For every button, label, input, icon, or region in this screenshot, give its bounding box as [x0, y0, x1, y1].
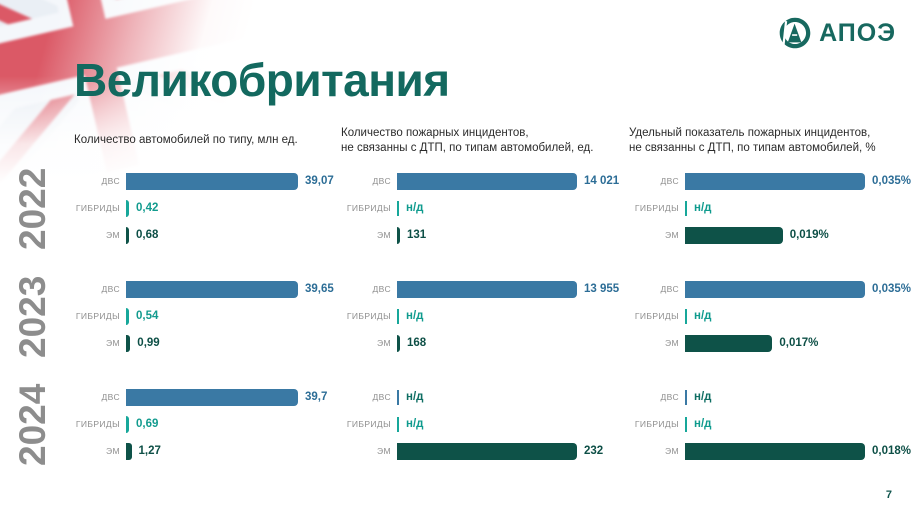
bar-value-label: 168	[400, 337, 426, 349]
bar-track: 0,017%	[685, 335, 916, 352]
bar	[397, 281, 577, 298]
chart-bar-row: ГИБРИДЫн/д	[629, 305, 916, 327]
bar-category-label: ГИБРИДЫ	[74, 419, 126, 429]
bar-value-label: 0,035%	[865, 283, 911, 295]
bar-value-label: 232	[577, 445, 603, 457]
bar-value-label: 39,65	[298, 283, 334, 295]
chart-bar-row: ЭМ0,017%	[629, 332, 916, 354]
chart-bar-row: ЭМ0,018%	[629, 440, 916, 462]
bar-value-label: 0,017%	[772, 337, 818, 349]
bar	[685, 227, 783, 244]
bar-track: 0,68	[126, 227, 362, 244]
bar-category-label: ГИБРИДЫ	[74, 203, 126, 213]
chart-bar-row: ЭМ0,68	[74, 224, 362, 246]
bar-category-label: ДВС	[341, 284, 397, 294]
bar-category-label: ГИБРИДЫ	[629, 419, 685, 429]
bar	[397, 443, 577, 460]
bar-track: 0,035%	[685, 281, 916, 298]
bar-value-label: н/д	[687, 310, 711, 322]
bar	[397, 173, 577, 190]
bar-value-label: 0,019%	[783, 229, 829, 241]
bar-track: н/д	[685, 416, 916, 433]
bar-value-label: 39,7	[298, 391, 327, 403]
bar-track: 168	[397, 335, 641, 352]
chart-bar-row: ГИБРИДЫн/д	[629, 413, 916, 435]
bar-category-label: ГИБРИДЫ	[341, 203, 397, 213]
logo-text: АПОЭ	[819, 21, 896, 46]
bar-track: н/д	[397, 200, 641, 217]
bar-category-label: ЭМ	[74, 230, 126, 240]
bar-track: н/д	[397, 389, 641, 406]
bar-value-label: 0,68	[129, 229, 158, 241]
bar-category-label: ДВС	[341, 392, 397, 402]
chart-bar-row: ДВС14 021	[341, 170, 641, 192]
bar-track: 0,54	[126, 308, 362, 325]
bar-track: 39,65	[126, 281, 362, 298]
chart-bar-row: ГИБРИДЫ0,69	[74, 413, 362, 435]
chart-bar-row: ГИБРИДЫн/д	[341, 413, 641, 435]
chart-bar-row: ДВС39,65	[74, 278, 362, 300]
bar	[685, 281, 865, 298]
bar-category-label: ДВС	[629, 392, 685, 402]
bar-value-label: 0,54	[129, 310, 158, 322]
bar-value-label: 0,42	[129, 202, 158, 214]
bar	[685, 443, 865, 460]
page-title: Великобритания	[74, 57, 450, 103]
bar-category-label: ЭМ	[341, 230, 397, 240]
bar	[126, 173, 298, 190]
bar-category-label: ГИБРИДЫ	[74, 311, 126, 321]
bar-track: н/д	[397, 416, 641, 433]
bar-value-label: н/д	[687, 418, 711, 430]
bar-category-label: ГИБРИДЫ	[341, 419, 397, 429]
bar	[126, 389, 298, 406]
bar	[126, 281, 298, 298]
bar-value-label: 0,018%	[865, 445, 911, 457]
bar-value-label: н/д	[399, 202, 423, 214]
bar-track: 1,27	[126, 443, 362, 460]
bar-value-label: н/д	[399, 418, 423, 430]
bar-track: 39,7	[126, 389, 362, 406]
bar-track: н/д	[685, 308, 916, 325]
bar-track: 0,69	[126, 416, 362, 433]
chart-bar-row: ДВС0,035%	[629, 170, 916, 192]
bar-category-label: ЭМ	[341, 446, 397, 456]
bar-category-label: ГИБРИДЫ	[629, 203, 685, 213]
apoe-logo: АПОЭ	[778, 16, 896, 50]
bar-category-label: ДВС	[74, 176, 126, 186]
year-label: 2023	[12, 296, 54, 358]
chart-bar-row: ДВСн/д	[629, 386, 916, 408]
bar-track: н/д	[685, 200, 916, 217]
bar-value-label: 14 021	[577, 175, 619, 187]
chart-bar-row: ГИБРИДЫ0,54	[74, 305, 362, 327]
bar-track: 232	[397, 443, 641, 460]
column-header-rate: Удельный показатель пожарных инцидентов,…	[629, 126, 876, 156]
chart-bar-row: ДВС0,035%	[629, 278, 916, 300]
bar-value-label: н/д	[399, 391, 423, 403]
bar-track: 0,035%	[685, 173, 916, 190]
bar-value-label: 0,69	[129, 418, 158, 430]
chart-bar-row: ДВС13 955	[341, 278, 641, 300]
bar-value-label: н/д	[687, 391, 711, 403]
chart-bar-row: ДВС39,7	[74, 386, 362, 408]
chart-bar-row: ЭМ0,99	[74, 332, 362, 354]
column-header-fires: Количество пожарных инцидентов, не связа…	[341, 126, 593, 156]
bar-track: 0,42	[126, 200, 362, 217]
bar-value-label: 0,99	[130, 337, 159, 349]
bar-track: 13 955	[397, 281, 641, 298]
bar-value-label: 13 955	[577, 283, 619, 295]
bar-track: 14 021	[397, 173, 641, 190]
bar-track: 39,07	[126, 173, 362, 190]
bar-value-label: н/д	[399, 310, 423, 322]
bar-track: н/д	[685, 389, 916, 406]
chart-bar-row: ГИБРИДЫн/д	[341, 197, 641, 219]
chart-bar-row: ЭМ232	[341, 440, 641, 462]
bar-category-label: ДВС	[74, 392, 126, 402]
bar	[685, 173, 865, 190]
chart-bar-row: ЭМ168	[341, 332, 641, 354]
column-header-cars: Количество автомобилей по типу, млн ед.	[74, 133, 298, 148]
year-label: 2022	[12, 188, 54, 250]
bar-value-label: 1,27	[132, 445, 161, 457]
bar-category-label: ДВС	[74, 284, 126, 294]
bar-category-label: ГИБРИДЫ	[629, 311, 685, 321]
bar-track: н/д	[397, 308, 641, 325]
year-label: 2024	[12, 404, 54, 466]
bar-category-label: ЭМ	[629, 230, 685, 240]
bar-category-label: ЭМ	[341, 338, 397, 348]
chart-bar-row: ЭМ131	[341, 224, 641, 246]
chart-bar-row: ДВСн/д	[341, 386, 641, 408]
bar-track: 0,99	[126, 335, 362, 352]
bar-value-label: н/д	[687, 202, 711, 214]
chart-bar-row: ГИБРИДЫ0,42	[74, 197, 362, 219]
bar-category-label: ДВС	[629, 284, 685, 294]
bar-category-label: ЭМ	[629, 338, 685, 348]
bar-category-label: ЭМ	[74, 338, 126, 348]
bar-track: 0,018%	[685, 443, 916, 460]
bar-value-label: 131	[400, 229, 426, 241]
chart-bar-row: ГИБРИДЫн/д	[341, 305, 641, 327]
bar-track: 131	[397, 227, 641, 244]
bar-value-label: 0,035%	[865, 175, 911, 187]
chart-bar-row: ДВС39,07	[74, 170, 362, 192]
bar	[685, 335, 772, 352]
bar-category-label: ДВС	[341, 176, 397, 186]
page-number: 7	[886, 489, 892, 501]
chart-bar-row: ГИБРИДЫн/д	[629, 197, 916, 219]
bar-track: 0,019%	[685, 227, 916, 244]
bar-category-label: ГИБРИДЫ	[341, 311, 397, 321]
chart-bar-row: ЭМ1,27	[74, 440, 362, 462]
apoe-emblem-icon	[778, 16, 812, 50]
bar-category-label: ДВС	[629, 176, 685, 186]
bar-value-label: 39,07	[298, 175, 334, 187]
bar-category-label: ЭМ	[74, 446, 126, 456]
chart-bar-row: ЭМ0,019%	[629, 224, 916, 246]
bar-category-label: ЭМ	[629, 446, 685, 456]
